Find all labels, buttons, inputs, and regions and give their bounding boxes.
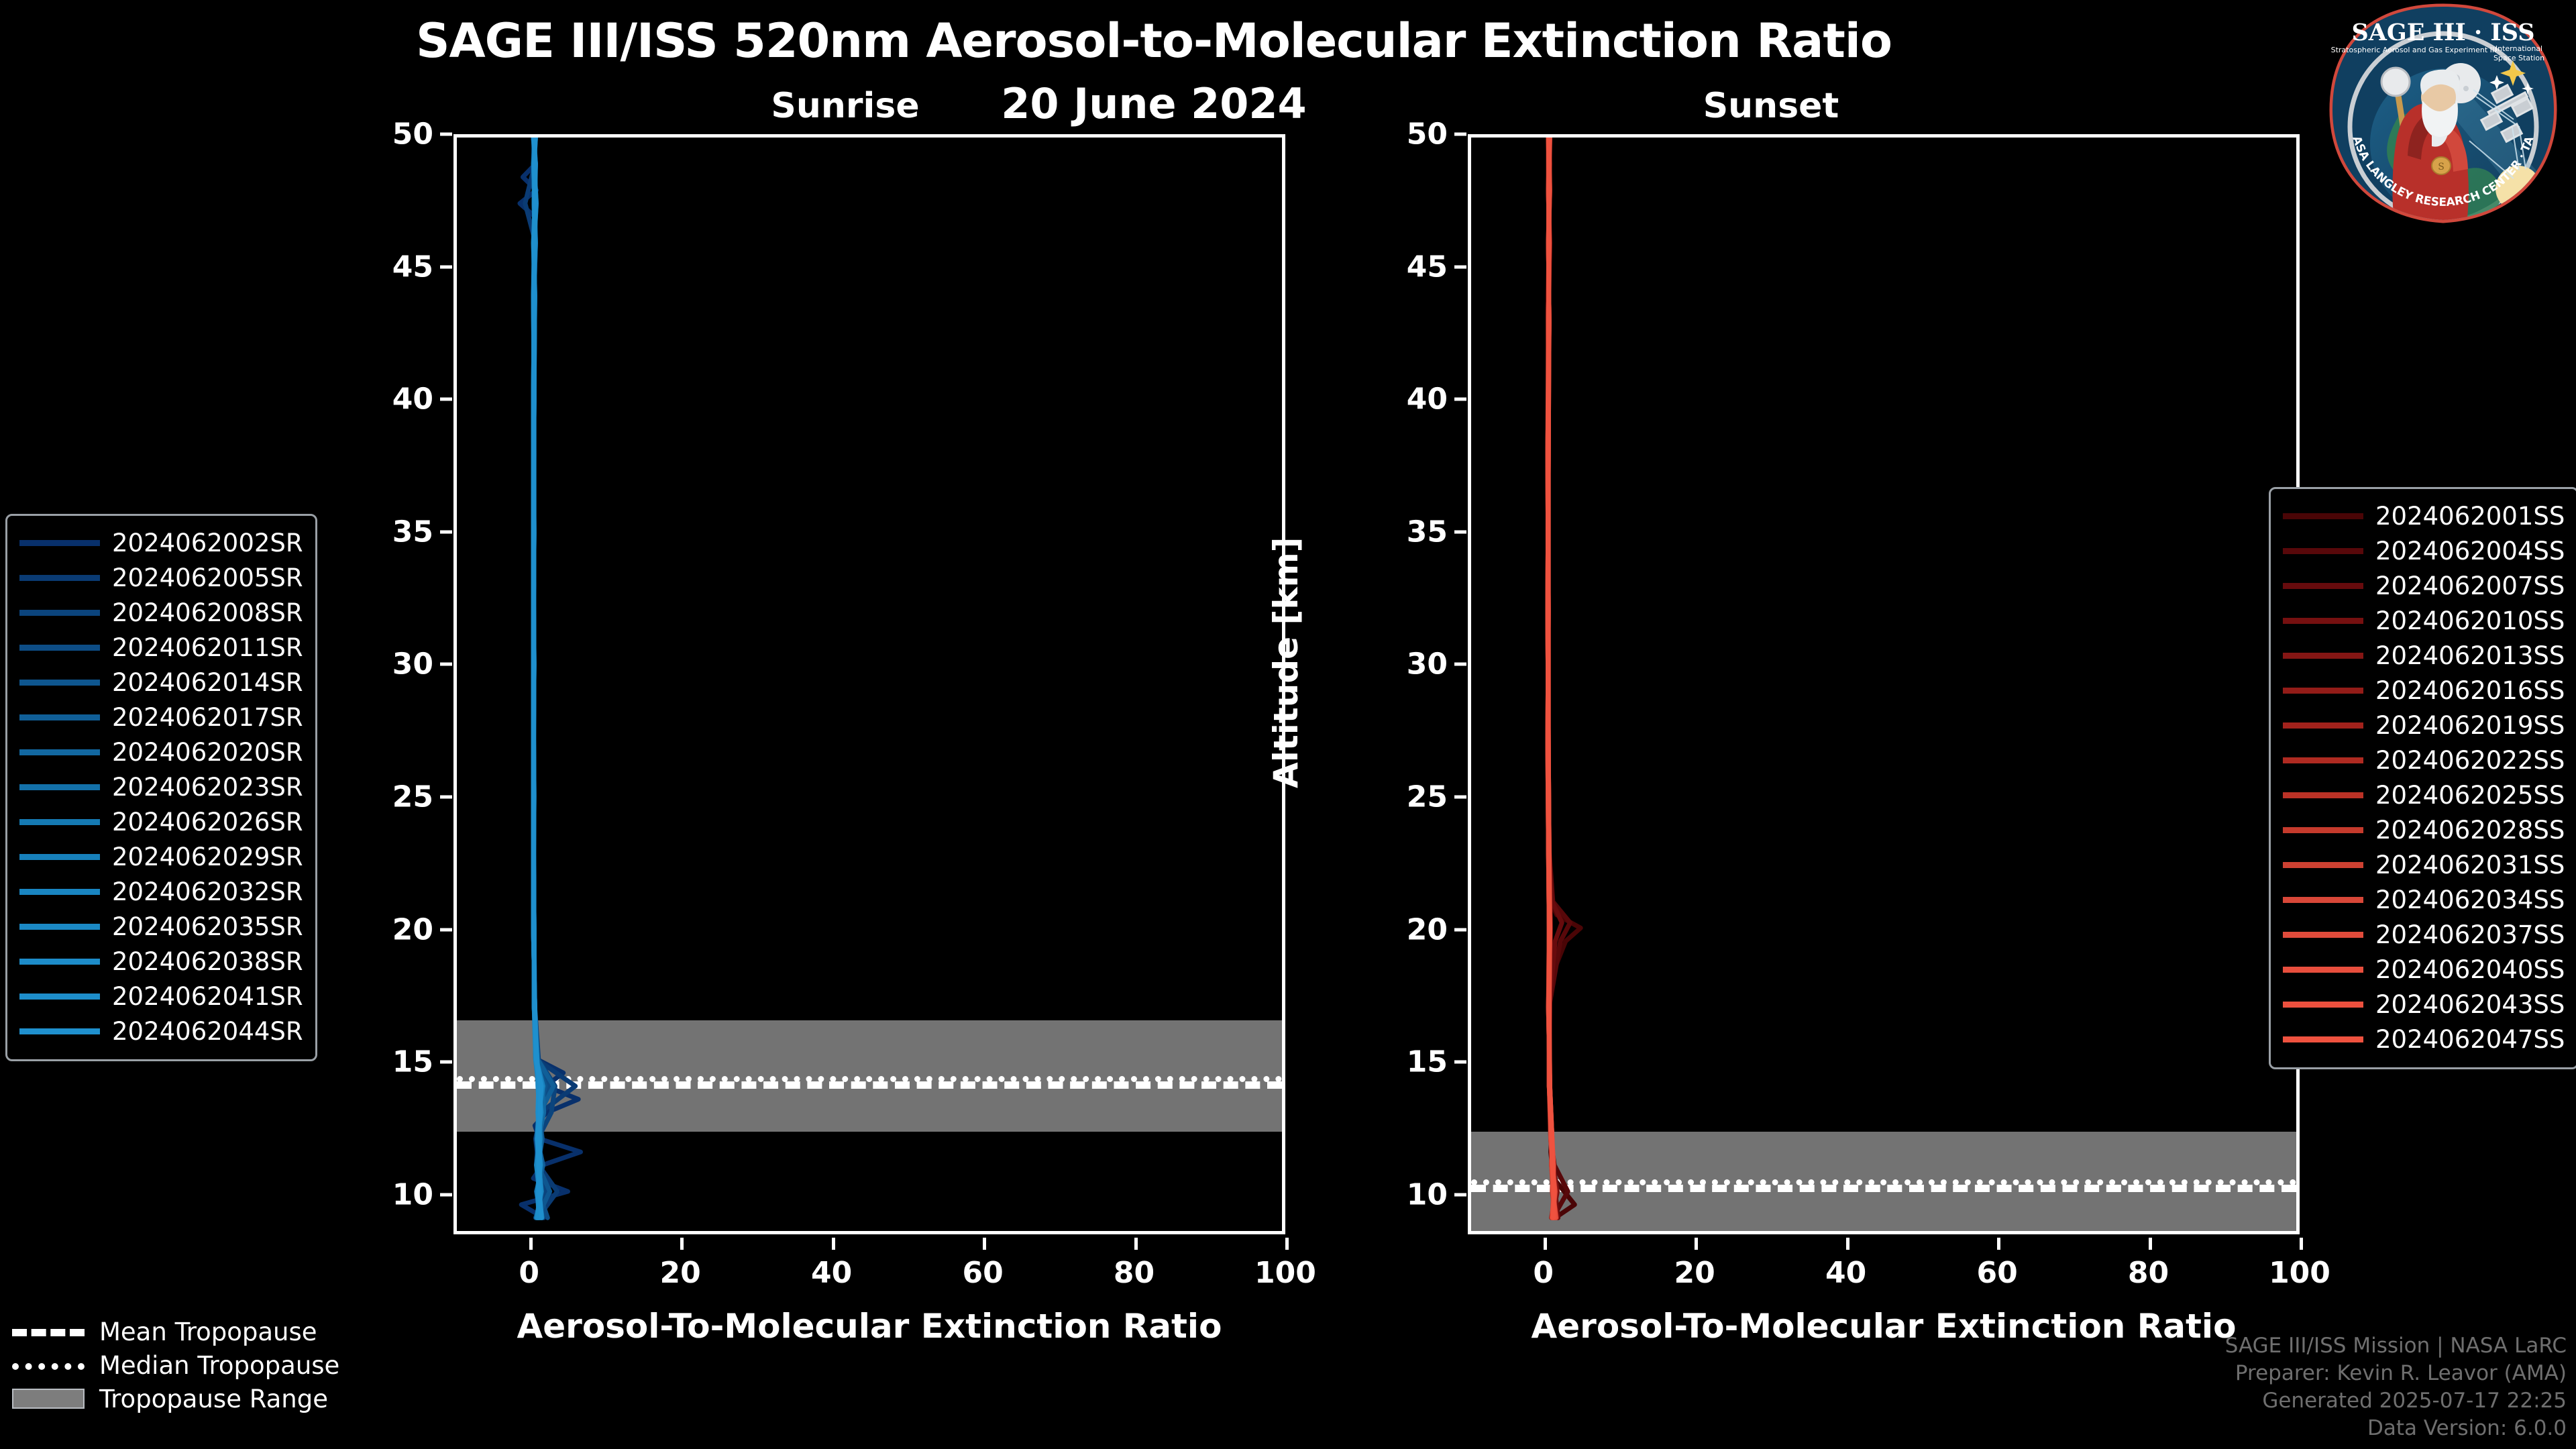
legend-item-label: 2024062029SR	[112, 843, 303, 871]
y-axis-tick-label: 20	[1367, 912, 1448, 947]
sunrise-legend-item[interactable]: 2024062020SR	[19, 735, 303, 769]
footer-line-preparer: Preparer: Kevin R. Leavor (AMA)	[2225, 1360, 2567, 1387]
legend-color-swatch	[19, 854, 100, 860]
legend-color-swatch	[19, 1028, 100, 1034]
sunrise-panel-title: Sunrise	[402, 86, 1288, 126]
legend-color-swatch	[2283, 932, 2363, 938]
x-axis-tick-mark	[2149, 1238, 2152, 1250]
sunset-legend-item[interactable]: 2024062037SS	[2283, 917, 2565, 952]
y-axis-tick-mark	[440, 1061, 452, 1064]
legend-item-label: 2024062044SR	[112, 1017, 303, 1046]
sunrise-legend-item[interactable]: 2024062026SR	[19, 804, 303, 839]
y-axis-label: Altitude [km]	[1267, 537, 1305, 788]
profile-line	[520, 138, 581, 1218]
legend-item-label: 2024062014SR	[112, 668, 303, 697]
y-axis-tick-mark	[440, 1193, 452, 1196]
legend-item-label: 2024062043SS	[2375, 990, 2565, 1019]
y-axis-tick-mark	[1454, 1193, 1466, 1196]
legend-color-swatch	[2283, 757, 2363, 763]
x-axis-tick-mark	[1285, 1238, 1289, 1250]
y-axis-tick-label: 30	[1367, 647, 1448, 682]
sunset-legend-item[interactable]: 2024062007SS	[2283, 568, 2565, 603]
legend-item-label: 2024062010SS	[2375, 606, 2565, 635]
svg-text:S: S	[2438, 162, 2445, 172]
sunrise-legend-item[interactable]: 2024062011SR	[19, 630, 303, 665]
legend-item-label: 2024062037SS	[2375, 920, 2565, 949]
tropopause-key-item: Mean Tropopause	[12, 1315, 339, 1348]
sunset-legend-item[interactable]: 2024062034SS	[2283, 882, 2565, 917]
x-axis-tick-mark	[832, 1238, 835, 1250]
legend-color-swatch	[19, 680, 100, 686]
x-axis-tick-label: 80	[2095, 1256, 2202, 1290]
legend-item-label: 2024062016SS	[2375, 676, 2565, 705]
patch-title: SAGE III · ISS	[2351, 19, 2534, 46]
sunset-legend-item[interactable]: 2024062047SS	[2283, 1022, 2565, 1057]
sunset-legend-item[interactable]: 2024062004SS	[2283, 533, 2565, 568]
profile-line	[1548, 138, 1580, 1218]
page-title: SAGE III/ISS 520nm Aerosol-to-Molecular …	[0, 13, 2308, 68]
legend-color-swatch	[2283, 513, 2363, 519]
legend-item-label: 2024062026SR	[112, 808, 303, 837]
sunrise-plot-area	[453, 134, 1285, 1234]
y-axis-tick-label: 10	[353, 1177, 433, 1212]
legend-item-label: 2024062041SR	[112, 982, 303, 1011]
legend-color-swatch	[19, 959, 100, 965]
y-axis-tick-label: 50	[1367, 117, 1448, 152]
y-axis-tick-label: 30	[353, 647, 433, 682]
x-axis-tick-label: 100	[2246, 1256, 2353, 1290]
x-axis-tick-label: 40	[778, 1256, 885, 1290]
y-axis-tick-mark	[1454, 398, 1466, 401]
legend-item-label: 2024062011SR	[112, 633, 303, 662]
legend-color-swatch	[2283, 827, 2363, 833]
legend-item-label: 2024062019SS	[2375, 711, 2565, 740]
legend-color-swatch	[2283, 792, 2363, 798]
legend-color-swatch	[2283, 548, 2363, 554]
x-axis-label: Aerosol-To-Molecular Extinction Ratio	[453, 1307, 1285, 1346]
x-axis-tick-mark	[1846, 1238, 1849, 1250]
sunset-panel-title: Sunset	[1328, 86, 2214, 126]
tropopause-key-label: Median Tropopause	[99, 1351, 339, 1380]
sunset-legend-item[interactable]: 2024062001SS	[2283, 498, 2565, 533]
sunset-legend-item[interactable]: 2024062022SS	[2283, 743, 2565, 777]
legend-color-swatch	[19, 610, 100, 616]
x-axis-tick-label: 20	[627, 1256, 734, 1290]
tropopause-key-item: Tropopause Range	[12, 1382, 339, 1415]
legend-color-swatch	[19, 749, 100, 755]
x-axis-tick-mark	[1695, 1238, 1698, 1250]
sage-iii-iss-mission-patch-icon: S SAGE III · ISS Stratospheric Aerosol a…	[2318, 3, 2569, 224]
y-axis-tick-mark	[1454, 1061, 1466, 1064]
footer-attribution: SAGE III/ISS Mission | NASA LaRC Prepare…	[2225, 1332, 2567, 1442]
x-axis-tick-label: 80	[1081, 1256, 1188, 1290]
y-axis-tick-label: 15	[1367, 1045, 1448, 1079]
y-axis-tick-label: 40	[353, 382, 433, 417]
x-axis-label: Aerosol-To-Molecular Extinction Ratio	[1468, 1307, 2300, 1346]
y-axis-tick-mark	[1454, 265, 1466, 268]
legend-item-label: 2024062034SS	[2375, 885, 2565, 914]
legend-item-label: 2024062028SS	[2375, 816, 2565, 845]
y-axis-tick-label: 25	[353, 780, 433, 814]
sunrise-legend-item[interactable]: 2024062002SR	[19, 525, 303, 560]
legend-color-swatch	[19, 714, 100, 720]
y-axis-tick-label: 35	[353, 515, 433, 549]
patch-subtitle-right-2: Space Station	[2493, 54, 2544, 62]
tropopause-key-marker	[12, 1324, 85, 1339]
legend-color-swatch	[2283, 862, 2363, 868]
footer-line-dataversion: Data Version: 6.0.0	[2225, 1415, 2567, 1442]
sunrise-legend-item[interactable]: 2024062014SR	[19, 665, 303, 700]
sunset-legend-item[interactable]: 2024062028SS	[2283, 812, 2565, 847]
legend-item-label: 2024062017SR	[112, 703, 303, 732]
sunrise-legend-item[interactable]: 2024062035SR	[19, 909, 303, 944]
y-axis-tick-label: 45	[1367, 250, 1448, 284]
legend-color-swatch	[19, 994, 100, 1000]
x-axis-tick-label: 100	[1232, 1256, 1339, 1290]
sunset-legend-item[interactable]: 2024062016SS	[2283, 673, 2565, 708]
sunset-legend-item[interactable]: 2024062019SS	[2283, 708, 2565, 743]
sunrise-legend-item[interactable]: 2024062029SR	[19, 839, 303, 874]
sunset-legend-item[interactable]: 2024062031SS	[2283, 847, 2565, 882]
y-axis-tick-label: 50	[353, 117, 433, 152]
legend-item-label: 2024062013SS	[2375, 641, 2565, 670]
sunrise-legend-item[interactable]: 2024062023SR	[19, 769, 303, 804]
legend-item-label: 2024062023SR	[112, 773, 303, 802]
legend-item-label: 2024062008SR	[112, 598, 303, 627]
x-axis-tick-label: 40	[1792, 1256, 1900, 1290]
legend-color-swatch	[19, 924, 100, 930]
legend-color-swatch	[2283, 618, 2363, 624]
y-axis-tick-label: 40	[1367, 382, 1448, 417]
legend-item-label: 2024062047SS	[2375, 1025, 2565, 1054]
y-axis-tick-mark	[440, 795, 452, 798]
tropopause-key: Mean TropopauseMedian TropopauseTropopau…	[12, 1315, 339, 1415]
y-axis-tick-label: 35	[1367, 515, 1448, 549]
y-axis-tick-mark	[1454, 795, 1466, 798]
footer-line-generated: Generated 2025-07-17 22:25	[2225, 1387, 2567, 1415]
x-axis-tick-label: 0	[1490, 1256, 1597, 1290]
legend-item-label: 2024062020SR	[112, 738, 303, 767]
legend-item-label: 2024062040SS	[2375, 955, 2565, 984]
y-axis-tick-label: 15	[353, 1045, 433, 1079]
y-axis-tick-mark	[440, 928, 452, 931]
x-axis-tick-mark	[983, 1238, 986, 1250]
legend-color-swatch	[19, 540, 100, 546]
sunset-legend-item[interactable]: 2024062025SS	[2283, 777, 2565, 812]
legend-color-swatch	[2283, 1002, 2363, 1008]
x-axis-tick-mark	[529, 1238, 533, 1250]
legend-color-swatch	[2283, 897, 2363, 903]
legend-item-label: 2024062005SR	[112, 563, 303, 592]
profile-curves	[1471, 138, 2296, 1231]
x-axis-tick-label: 20	[1641, 1256, 1748, 1290]
profile-curves	[457, 138, 1282, 1231]
legend-item-label: 2024062031SS	[2375, 851, 2565, 879]
legend-color-swatch	[2283, 967, 2363, 973]
x-axis-tick-mark	[680, 1238, 684, 1250]
sunrise-legend-item[interactable]: 2024062032SR	[19, 874, 303, 909]
legend-color-swatch	[2283, 722, 2363, 729]
legend-item-label: 2024062001SS	[2375, 502, 2565, 531]
legend-color-swatch	[19, 819, 100, 825]
legend-color-swatch	[19, 575, 100, 581]
y-axis-tick-mark	[440, 663, 452, 666]
tropopause-key-label: Mean Tropopause	[99, 1318, 317, 1346]
tropopause-key-item: Median Tropopause	[12, 1348, 339, 1382]
sunrise-legend-item[interactable]: 2024062017SR	[19, 700, 303, 735]
y-axis-tick-mark	[1454, 530, 1466, 533]
legend-color-swatch	[2283, 583, 2363, 589]
legend-item-label: 2024062022SS	[2375, 746, 2565, 775]
y-axis-tick-label: 25	[1367, 780, 1448, 814]
legend-item-label: 2024062032SR	[112, 877, 303, 906]
x-axis-tick-label: 60	[929, 1256, 1036, 1290]
legend-color-swatch	[2283, 653, 2363, 659]
sunset-legend-item[interactable]: 2024062013SS	[2283, 638, 2565, 673]
legend-color-swatch	[19, 645, 100, 651]
x-axis-tick-label: 0	[476, 1256, 583, 1290]
sunrise-legend-item[interactable]: 2024062044SR	[19, 1014, 303, 1049]
sunrise-legend-item[interactable]: 2024062038SR	[19, 944, 303, 979]
legend-item-label: 2024062035SR	[112, 912, 303, 941]
y-axis-tick-label: 10	[1367, 1177, 1448, 1212]
y-axis-tick-label: 20	[353, 912, 433, 947]
y-axis-tick-mark	[440, 133, 452, 136]
legend-color-swatch	[19, 784, 100, 790]
y-axis-tick-mark	[1454, 663, 1466, 666]
sunrise-legend-item[interactable]: 2024062008SR	[19, 595, 303, 630]
legend-color-swatch	[2283, 688, 2363, 694]
patch-subtitle-left: Stratospheric Aerosol and Gas Experiment…	[2331, 46, 2497, 54]
sunset-legend-item[interactable]: 2024062043SS	[2283, 987, 2565, 1022]
x-axis-tick-label: 60	[1943, 1256, 2051, 1290]
x-axis-tick-mark	[1134, 1238, 1138, 1250]
y-axis-tick-mark	[1454, 133, 1466, 136]
tropopause-key-label: Tropopause Range	[99, 1385, 328, 1413]
sunset-legend-item[interactable]: 2024062040SS	[2283, 952, 2565, 987]
sunset-legend-item[interactable]: 2024062010SS	[2283, 603, 2565, 638]
y-axis-tick-mark	[440, 265, 452, 268]
x-axis-tick-mark	[2300, 1238, 2303, 1250]
legend-item-label: 2024062007SS	[2375, 572, 2565, 600]
x-axis-tick-mark	[1544, 1238, 1547, 1250]
tropopause-key-marker	[12, 1389, 85, 1409]
legend-item-label: 2024062004SS	[2375, 537, 2565, 566]
patch-subtitle-right-1: International	[2495, 44, 2542, 53]
x-axis-tick-mark	[1997, 1238, 2000, 1250]
sunset-plot-area	[1468, 134, 2300, 1234]
sunset-legend: 2024062001SS2024062004SS2024062007SS2024…	[2269, 487, 2576, 1069]
legend-item-label: 2024062025SS	[2375, 781, 2565, 810]
sunrise-legend-item[interactable]: 2024062041SR	[19, 979, 303, 1014]
legend-color-swatch	[2283, 1036, 2363, 1042]
y-axis-tick-mark	[440, 398, 452, 401]
legend-item-label: 2024062002SR	[112, 529, 303, 557]
footer-line-mission: SAGE III/ISS Mission | NASA LaRC	[2225, 1332, 2567, 1360]
y-axis-tick-mark	[440, 530, 452, 533]
tropopause-key-marker	[12, 1358, 85, 1373]
sunrise-legend-item[interactable]: 2024062005SR	[19, 560, 303, 595]
sunrise-legend: 2024062002SR2024062005SR2024062008SR2024…	[5, 514, 317, 1061]
legend-item-label: 2024062038SR	[112, 947, 303, 976]
y-axis-tick-label: 45	[353, 250, 433, 284]
legend-color-swatch	[19, 889, 100, 895]
y-axis-tick-mark	[1454, 928, 1466, 931]
